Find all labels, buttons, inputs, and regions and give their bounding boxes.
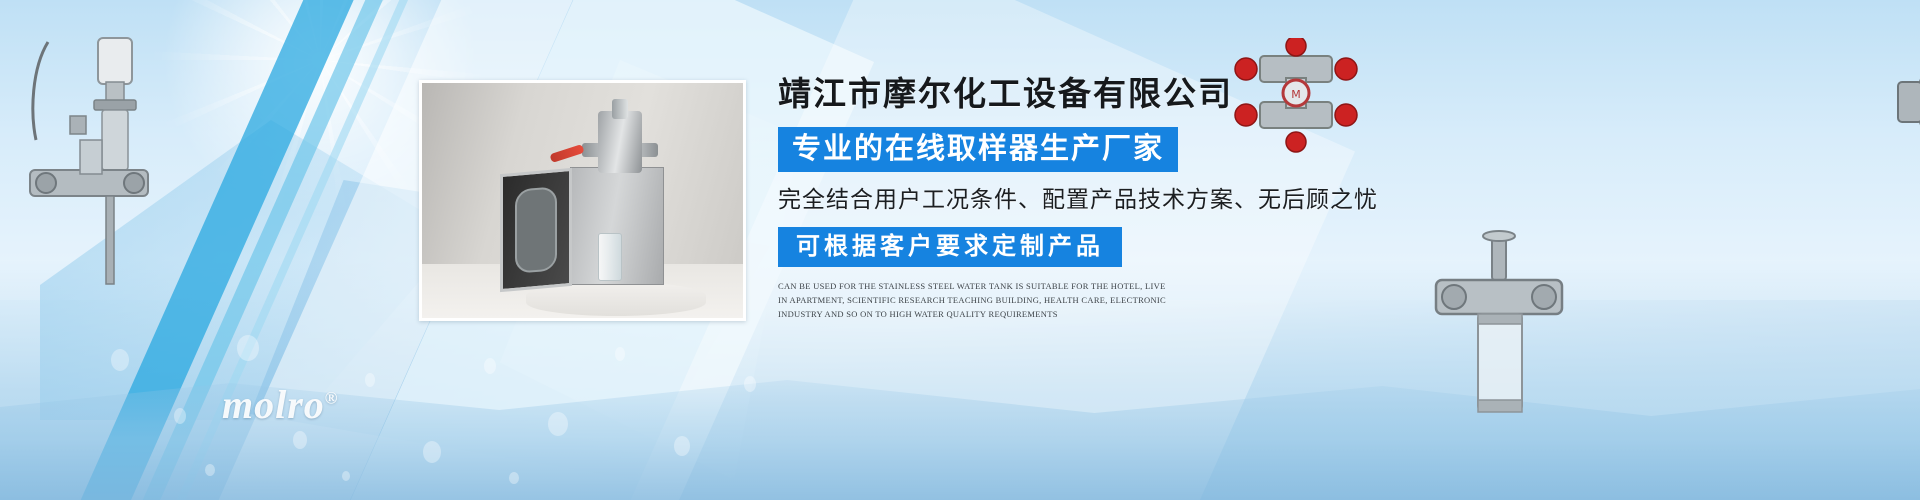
promotional-banner: M 靖江市摩尔化工设备有限公司 xyxy=(0,0,1920,500)
photo-cabinet-door xyxy=(500,168,572,292)
product-sight-glass-valve-icon xyxy=(1420,230,1580,430)
headline-1-row: 专业的在线取样器生产厂家 xyxy=(778,127,1398,172)
photo-valve-head xyxy=(598,111,642,173)
subline-text: 完全结合用户工况条件、配置产品技术方案、无后顾之忧 xyxy=(778,185,1398,214)
company-title: 靖江市摩尔化工设备有限公司 xyxy=(778,76,1398,116)
registered-trademark-icon: ® xyxy=(325,389,339,408)
product-photo-sampler-cabinet xyxy=(419,80,746,321)
water-drop-icon xyxy=(60,320,820,490)
headline-2-row: 可根据客户要求定制产品 xyxy=(778,227,1398,267)
photo-door-window xyxy=(515,186,557,274)
watermark-text: molro xyxy=(222,382,325,427)
photo-sample-bottle xyxy=(598,233,622,281)
watermark-logo: molro® xyxy=(222,381,339,428)
headline-2-badge: 可根据客户要求定制产品 xyxy=(778,227,1122,267)
headline-1-badge: 专业的在线取样器生产厂家 xyxy=(778,127,1178,172)
product-valve-body-icon xyxy=(1890,28,1920,178)
product-sampler-assembly-icon xyxy=(10,20,170,290)
photo-valve-stem xyxy=(612,99,628,119)
banner-text-block: 靖江市摩尔化工设备有限公司 专业的在线取样器生产厂家 完全结合用户工况条件、配置… xyxy=(778,76,1398,321)
english-description: CAN BE USED FOR THE STAINLESS STEEL WATE… xyxy=(778,280,1176,321)
